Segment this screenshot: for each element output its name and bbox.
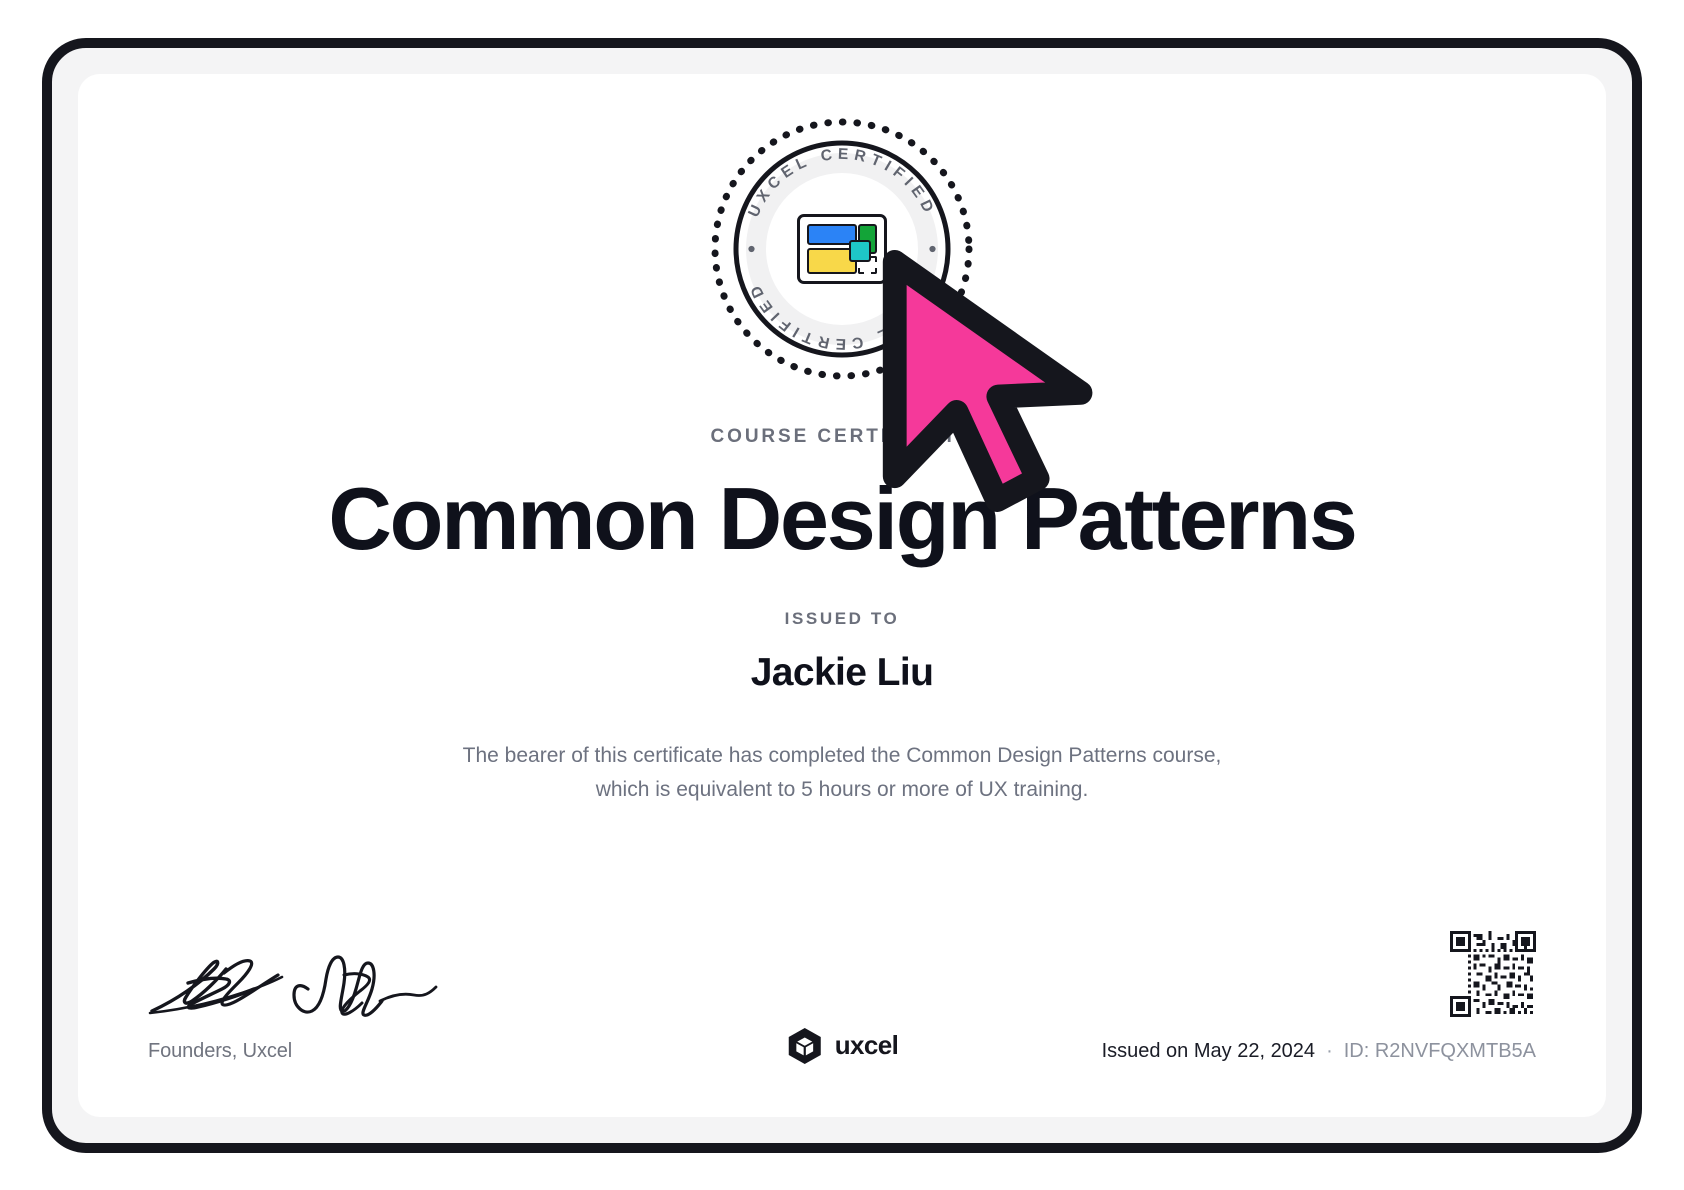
certificate-frame: UXCEL CERTIFIED UXCEL CERTIFIED [42,38,1642,1153]
certificate-description: The bearer of this certificate has compl… [462,739,1222,807]
certificate-card: UXCEL CERTIFIED UXCEL CERTIFIED [78,74,1606,1117]
issuance-meta: Issued on May 22, 2024 · ID: R2NVFQXMTB5… [1102,1040,1536,1063]
signature-role-label: Founders, Uxcel [148,1040,292,1063]
design-patterns-layout-icon [797,214,887,284]
uxcel-brand: uxcel [786,1027,899,1065]
recipient-name: Jackie Liu [751,651,934,695]
issued-on-date: Issued on May 22, 2024 [1102,1040,1315,1063]
pointer-cursor-icon [859,250,1121,512]
uxcel-cube-logo-icon [786,1027,824,1065]
certification-seal: UXCEL CERTIFIED UXCEL CERTIFIED [711,118,973,380]
meta-separator: · [1326,1040,1333,1063]
issued-to-label: ISSUED TO [785,609,900,629]
certificate-footer: Founders, Uxcel uxcel [148,915,1536,1075]
course-title: Common Design Patterns [328,474,1355,564]
founder-signatures [148,939,438,1019]
uxcel-wordmark: uxcel [835,1030,899,1061]
qr-code[interactable] [1450,931,1536,1017]
certificate-id: ID: R2NVFQXMTB5A [1344,1040,1536,1063]
certificate-page: UXCEL CERTIFIED UXCEL CERTIFIED [0,0,1684,1190]
